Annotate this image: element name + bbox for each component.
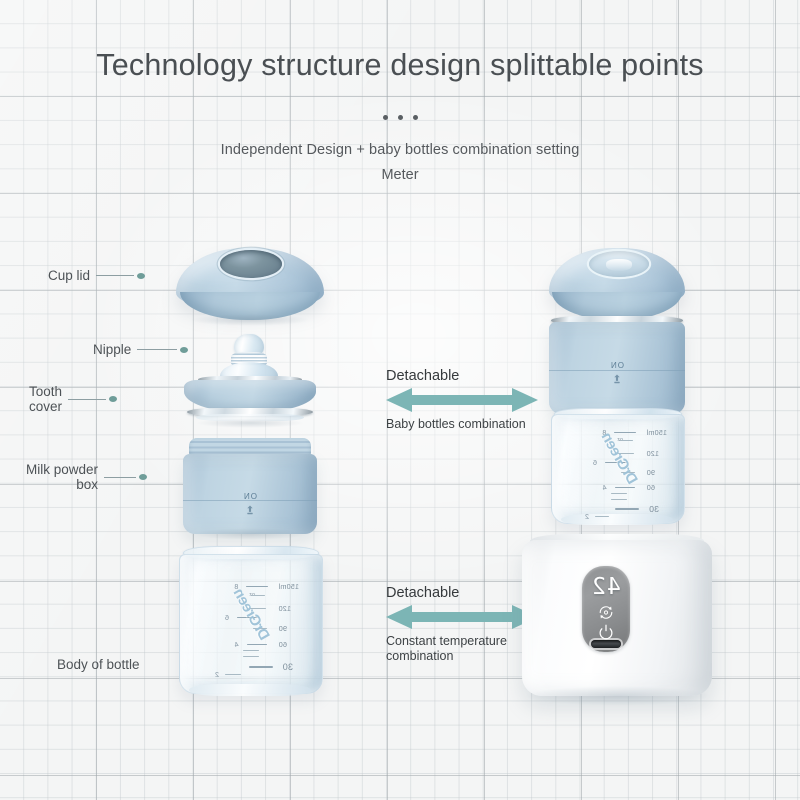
bottle-warmer-base: 42 (522, 534, 712, 698)
detachable-title: Detachable (386, 368, 484, 384)
scale-ml-120: 120 (278, 604, 291, 613)
scale-ml-90: 90 (647, 468, 655, 477)
subtitle-line-1: Independent Design + baby bottles combin… (0, 142, 800, 158)
lock-arrow-icon (246, 505, 255, 515)
exploded-cup-lid (176, 248, 324, 324)
dot-1 (383, 115, 388, 120)
callout-label-milk-powder-box: Milk powder box (26, 462, 98, 492)
double-arrow-horizontal-icon (386, 604, 538, 630)
exploded-tooth-cover-ring (184, 376, 316, 424)
assembled-milk-powder-box: ON (549, 322, 685, 418)
callout-leader-line (104, 477, 136, 478)
callout-leader-line (137, 349, 177, 350)
scale-row-30: 30 (249, 662, 293, 672)
warmer-base-shadow (524, 686, 712, 706)
rotate-cycle-icon[interactable] (598, 604, 615, 621)
scale-oz-2: 2 (585, 512, 589, 521)
milk-box-shadow (194, 528, 306, 540)
divider-dots (0, 112, 800, 123)
callout-label-cup-lid: Cup lid (48, 268, 90, 283)
scale-row-30: 30 (615, 504, 659, 514)
milk-box-on-mark: ON (183, 492, 317, 501)
exploded-glass-bottle-body: 150ml 8 oz 120 6 90 60 (179, 546, 321, 698)
callout-dot (180, 347, 188, 353)
scale-ml-120: 120 (646, 449, 659, 458)
indicator-slot-icon[interactable] (591, 640, 621, 648)
scale-ml-150: 150ml (646, 428, 667, 437)
dot-2 (398, 115, 403, 120)
infographic-stage: Technology structure design splittable p… (0, 0, 800, 800)
tooth-cover-shadow (196, 418, 304, 428)
scale-oz-4: 4 (603, 483, 607, 492)
lock-arrow-icon (613, 374, 622, 384)
cup-lid-shadow (190, 314, 310, 326)
callout-label-nipple: Nipple (93, 342, 131, 357)
exploded-milk-powder-box: ON (183, 438, 317, 534)
callout-cup-lid: Cup lid (48, 268, 145, 283)
temperature-display: 42 (582, 574, 630, 600)
scale-ml-150: 150ml (278, 582, 299, 591)
assembled-on-mark: ON (549, 361, 685, 370)
callout-dot (137, 273, 145, 279)
cup-lid-top-window (220, 250, 282, 278)
warmer-control-panel[interactable]: 42 (582, 566, 630, 652)
scale-oz-4: 4 (235, 640, 239, 649)
callout-tooth-cover: Tooth cover (29, 384, 117, 414)
callout-label-body-of-bottle: Body of bottle (57, 657, 140, 672)
scale-ml-30: 30 (649, 504, 659, 514)
scale-ml-60: 60 (279, 640, 287, 649)
detachable-caption: Baby bottles combination (386, 417, 538, 432)
scale-ml-60: 60 (647, 483, 655, 492)
callout-leader-line (96, 275, 134, 276)
double-arrow-horizontal-icon (386, 387, 538, 413)
detachable-caption: Constant temperature combination (386, 634, 536, 664)
detachable-marker-baby-bottles: Detachable Baby bottles combination (386, 368, 538, 432)
assembled-glass-bottle-body: 150ml 8 oz 120 6 90 60 (551, 408, 683, 526)
subtitle-line-2: Meter (0, 167, 800, 183)
scale-oz-6: 6 (225, 613, 229, 622)
callout-dot (139, 474, 147, 480)
callout-leader-line (68, 399, 106, 400)
scale-ml-30: 30 (283, 662, 293, 672)
callout-milk-powder-box: Milk powder box (26, 462, 147, 492)
scale-oz-2: 2 (215, 670, 219, 679)
detachable-marker-constant-temperature: Detachable Constant temperature combinat… (386, 585, 538, 664)
page-title: Technology structure design splittable p… (0, 48, 800, 83)
callout-body-of-bottle: Body of bottle (57, 657, 140, 672)
detachable-title: Detachable (386, 585, 538, 601)
power-icon[interactable] (598, 624, 615, 641)
scale-oz-6: 6 (593, 458, 597, 467)
dot-3 (413, 115, 418, 120)
scale-ml-90: 90 (279, 624, 287, 633)
callout-nipple: Nipple (93, 342, 188, 357)
assembled-lid-window (589, 251, 649, 277)
callout-label-tooth-cover: Tooth cover (29, 384, 62, 414)
callout-dot (109, 396, 117, 402)
